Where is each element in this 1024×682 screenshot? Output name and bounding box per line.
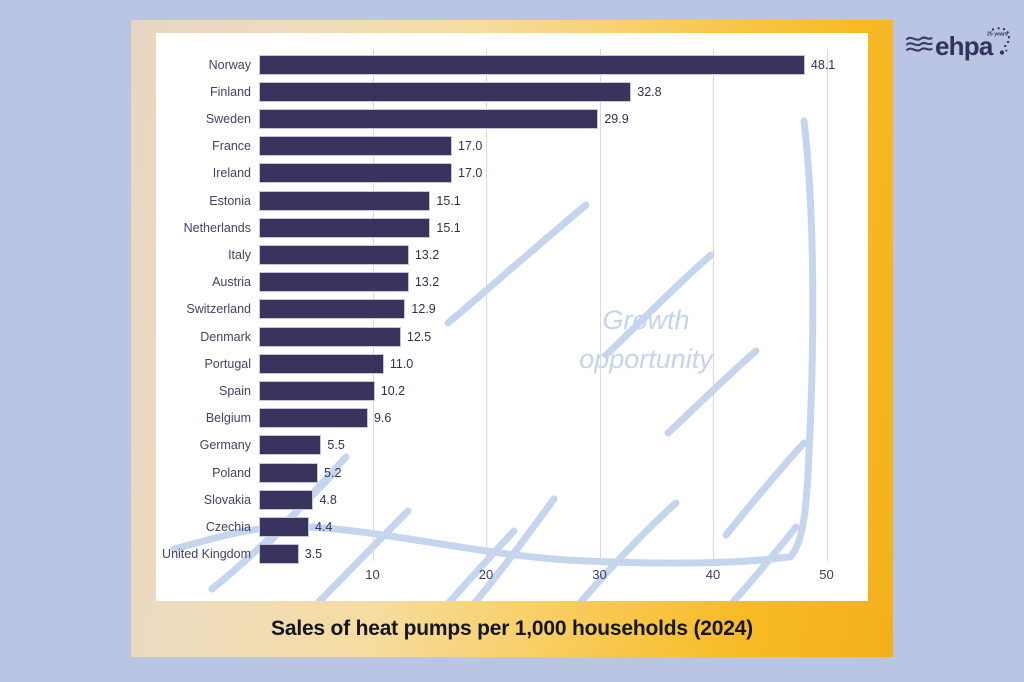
category-label: Belgium — [206, 411, 251, 425]
bar — [259, 109, 598, 129]
category-label: Germany — [200, 438, 251, 452]
bar-row: Czechia4.4 — [156, 513, 868, 540]
bar-value-label: 9.6 — [374, 411, 391, 425]
anniversary-label: 25 years — [987, 32, 1008, 38]
bar-value-label: 29.9 — [604, 112, 628, 126]
bar — [259, 381, 375, 401]
bar-row: Italy13.2 — [156, 241, 868, 268]
bar — [259, 163, 452, 183]
svg-text:ehpa: ehpa — [935, 31, 994, 61]
bar — [259, 55, 805, 75]
bar — [259, 408, 368, 428]
category-label: United Kingdom — [162, 547, 251, 561]
bar — [259, 435, 321, 455]
category-label: Italy — [228, 248, 251, 262]
bar — [259, 517, 309, 537]
bar-row: Estonia15.1 — [156, 187, 868, 214]
bar-row: United Kingdom3.5 — [156, 541, 868, 568]
chart-caption: Sales of heat pumps per 1,000 households… — [131, 601, 893, 657]
bar-value-label: 13.2 — [415, 275, 439, 289]
bar-row: Norway48.1 — [156, 51, 868, 78]
caption-title: Sales of heat pumps per 1,000 households… — [271, 617, 753, 641]
bar — [259, 544, 299, 564]
bar-value-label: 15.1 — [436, 194, 460, 208]
bar — [259, 490, 313, 510]
bar — [259, 218, 430, 238]
bar — [259, 354, 384, 374]
category-label: Finland — [210, 85, 251, 99]
x-axis-tick-label: 20 — [479, 567, 493, 582]
bar-row: Denmark12.5 — [156, 323, 868, 350]
x-axis-tick-label: 30 — [592, 567, 606, 582]
category-label: Switzerland — [186, 302, 251, 316]
bar — [259, 327, 401, 347]
x-axis-tick-label: 40 — [706, 567, 720, 582]
category-label: Slovakia — [204, 493, 251, 507]
category-label: Czechia — [206, 520, 251, 534]
horizontal-bar-chart: 1020304050Norway48.1Finland32.8Sweden29.… — [156, 33, 868, 601]
screenshot-canvas: Growth opportunity 1020304050Norway48.1F… — [0, 0, 1024, 682]
bar-value-label: 17.0 — [458, 166, 482, 180]
bar-value-label: 12.9 — [411, 302, 435, 316]
bar-row: Finland32.8 — [156, 78, 868, 105]
bar-value-label: 4.8 — [319, 493, 336, 507]
bar-value-label: 13.2 — [415, 248, 439, 262]
category-label: France — [212, 139, 251, 153]
category-label: Austria — [212, 275, 251, 289]
category-label: Netherlands — [184, 221, 251, 235]
bar-row: France17.0 — [156, 133, 868, 160]
bar-value-label: 12.5 — [407, 330, 431, 344]
bar-row: Germany5.5 — [156, 432, 868, 459]
bar-value-label: 32.8 — [637, 85, 661, 99]
category-label: Spain — [219, 384, 251, 398]
bar-value-label: 48.1 — [811, 58, 835, 72]
plot-card: Growth opportunity 1020304050Norway48.1F… — [156, 33, 868, 601]
bar — [259, 136, 452, 156]
category-label: Poland — [212, 466, 251, 480]
x-axis-tick-label: 10 — [365, 567, 379, 582]
bar-row: Slovakia4.8 — [156, 486, 868, 513]
bar — [259, 272, 409, 292]
bar-value-label: 17.0 — [458, 139, 482, 153]
category-label: Sweden — [206, 112, 251, 126]
bar — [259, 463, 318, 483]
bar-row: Ireland17.0 — [156, 160, 868, 187]
bar-value-label: 11.0 — [390, 357, 413, 371]
bar-row: Sweden29.9 — [156, 105, 868, 132]
bar — [259, 82, 631, 102]
bar-value-label: 15.1 — [436, 221, 460, 235]
bar-row: Netherlands15.1 — [156, 214, 868, 241]
bar-value-label: 5.2 — [324, 466, 341, 480]
bar-value-label: 10.2 — [381, 384, 405, 398]
bar-row: Switzerland12.9 — [156, 296, 868, 323]
category-label: Estonia — [209, 194, 251, 208]
bar — [259, 299, 405, 319]
ehpa-logo: ehpa 25 years — [905, 26, 1011, 64]
bar — [259, 245, 409, 265]
bar-value-label: 3.5 — [305, 547, 322, 561]
bar-row: Spain10.2 — [156, 377, 868, 404]
bar-value-label: 5.5 — [327, 438, 344, 452]
bar-row: Austria13.2 — [156, 269, 868, 296]
wave-lines-icon — [907, 38, 932, 51]
category-label: Portugal — [204, 357, 251, 371]
bar-value-label: 4.4 — [315, 520, 332, 534]
x-axis-tick-label: 50 — [819, 567, 833, 582]
category-label: Norway — [209, 58, 251, 72]
bar-row: Poland5.2 — [156, 459, 868, 486]
bar — [259, 191, 430, 211]
bar-row: Belgium9.6 — [156, 405, 868, 432]
category-label: Denmark — [200, 330, 251, 344]
category-label: Ireland — [213, 166, 251, 180]
logo-dot-icon — [1000, 50, 1004, 54]
bar-row: Portugal11.0 — [156, 350, 868, 377]
